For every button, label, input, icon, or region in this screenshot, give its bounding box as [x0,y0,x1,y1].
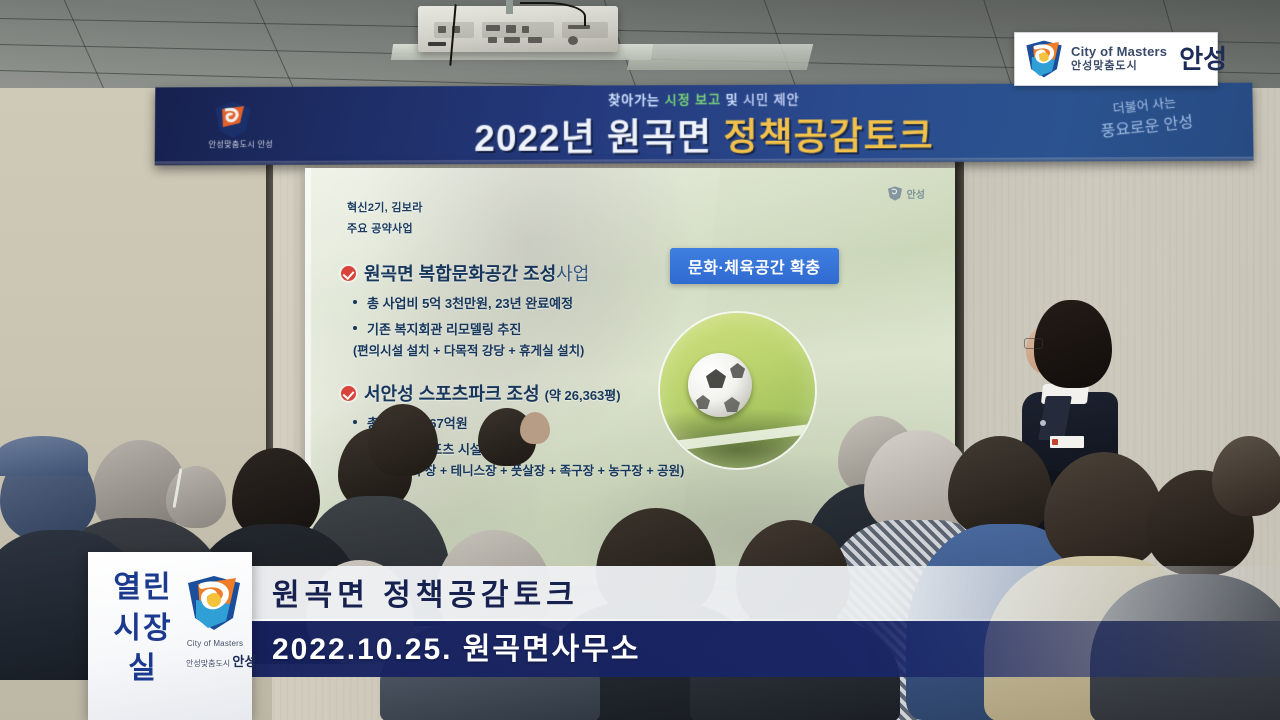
cube-text-line1: 열린 [102,568,184,609]
channel-logo-line1: City of Masters [1071,44,1167,60]
check-icon [341,386,356,401]
banner-subtitle-hl: 시정 보고 [665,92,721,107]
slide-section-1-bullet-1: 총 사업비 5억 3천만원, 23년 완료예정 [341,293,589,312]
slide-section-1-title-tail: 사업 [556,264,589,284]
event-banner: 안성맞춤도시 안성 찾아가는 시정 보고 및 시민 제안 2022년 원곡면 정… [155,83,1254,166]
cube-logo: City of Masters 안성맞춤도시 안성 [186,574,244,670]
anseong-symbol-icon [186,574,242,632]
slide-header-line2: 주요 공약사업 [347,219,423,240]
banner-subtitle-mid: 및 [721,92,743,107]
slide-section-1: 원곡면 복합문화공간 조성사업 총 사업비 5억 3천만원, 23년 완료예정 … [341,260,589,359]
glasses-icon [1024,338,1043,349]
slide-tag-badge: 문화·체육공간 확충 [670,248,839,284]
cube-logo-kr-small: 안성맞춤도시 [186,659,230,668]
slide-logo-text: 안성 [907,186,925,201]
anseong-symbol-icon [1025,39,1063,79]
slide-section-2-title-main: 서안성 스포츠파크 조성 [364,384,540,404]
slide-section-2-paren: (약 26,363평) [545,388,621,403]
anseong-symbol-icon [887,186,903,201]
slide-section-1-title: 원곡면 복합문화공간 조성사업 [341,260,589,286]
slide-section-2-title: 서안성 스포츠파크 조성 (약 26,363평) [341,380,684,406]
name-badge [1050,436,1084,448]
channel-logo: City of Masters 안성맞춤도시 안성 [1014,32,1218,86]
cube-logo-caption: City of Masters [186,639,244,648]
banner-subtitle-a: 찾아가는 [608,92,664,107]
banner-title-highlight: 정책공감토크 [723,116,934,158]
slide-section-1-title-main: 원곡면 복합문화공간 조성 [364,264,556,284]
slide-section-1-bullet-2: 기존 복지회관 리모델링 추진 (편의시설 설치 + 다목적 강당 + 휴게실 … [341,319,589,359]
soccer-ball-photo [660,313,815,468]
check-icon [341,266,356,281]
cube-text-line2: 시장실 [102,609,184,690]
channel-logo-line2: 안성맞춤도시 [1071,60,1167,74]
slide-header-line1: 혁신2기, 김보라 [347,198,423,219]
cube-logo-kr-big: 안성 [232,654,256,669]
cube-text: 열린 시장실 [102,568,184,690]
cap-icon [0,436,88,476]
slide-corner-logo: 안성 [887,186,925,201]
video-frame: 안성맞춤도시 안성 찾아가는 시정 보고 및 시민 제안 2022년 원곡면 정… [0,0,1280,720]
slide-section-1-subnote: (편의시설 설치 + 다목적 강당 + 휴게실 설치) [353,340,589,359]
open-mayor-office-cube: 열린 시장실 City of Masters 안성맞춤도시 안성 [88,552,252,720]
cube-logo-kr: 안성맞춤도시 안성 [186,651,244,670]
channel-logo-city: 안성 [1179,46,1227,72]
slide-section-1-bullet-2-text: 기존 복지회관 리모델링 추진 [367,322,521,337]
soccer-ball-icon [688,353,752,417]
slide-header: 혁신2기, 김보라 주요 공약사업 [347,198,423,240]
banner-title-year: 2022년 원곡면 [474,117,723,159]
banner-subtitle-hl2: 시민 제안 [743,92,800,107]
